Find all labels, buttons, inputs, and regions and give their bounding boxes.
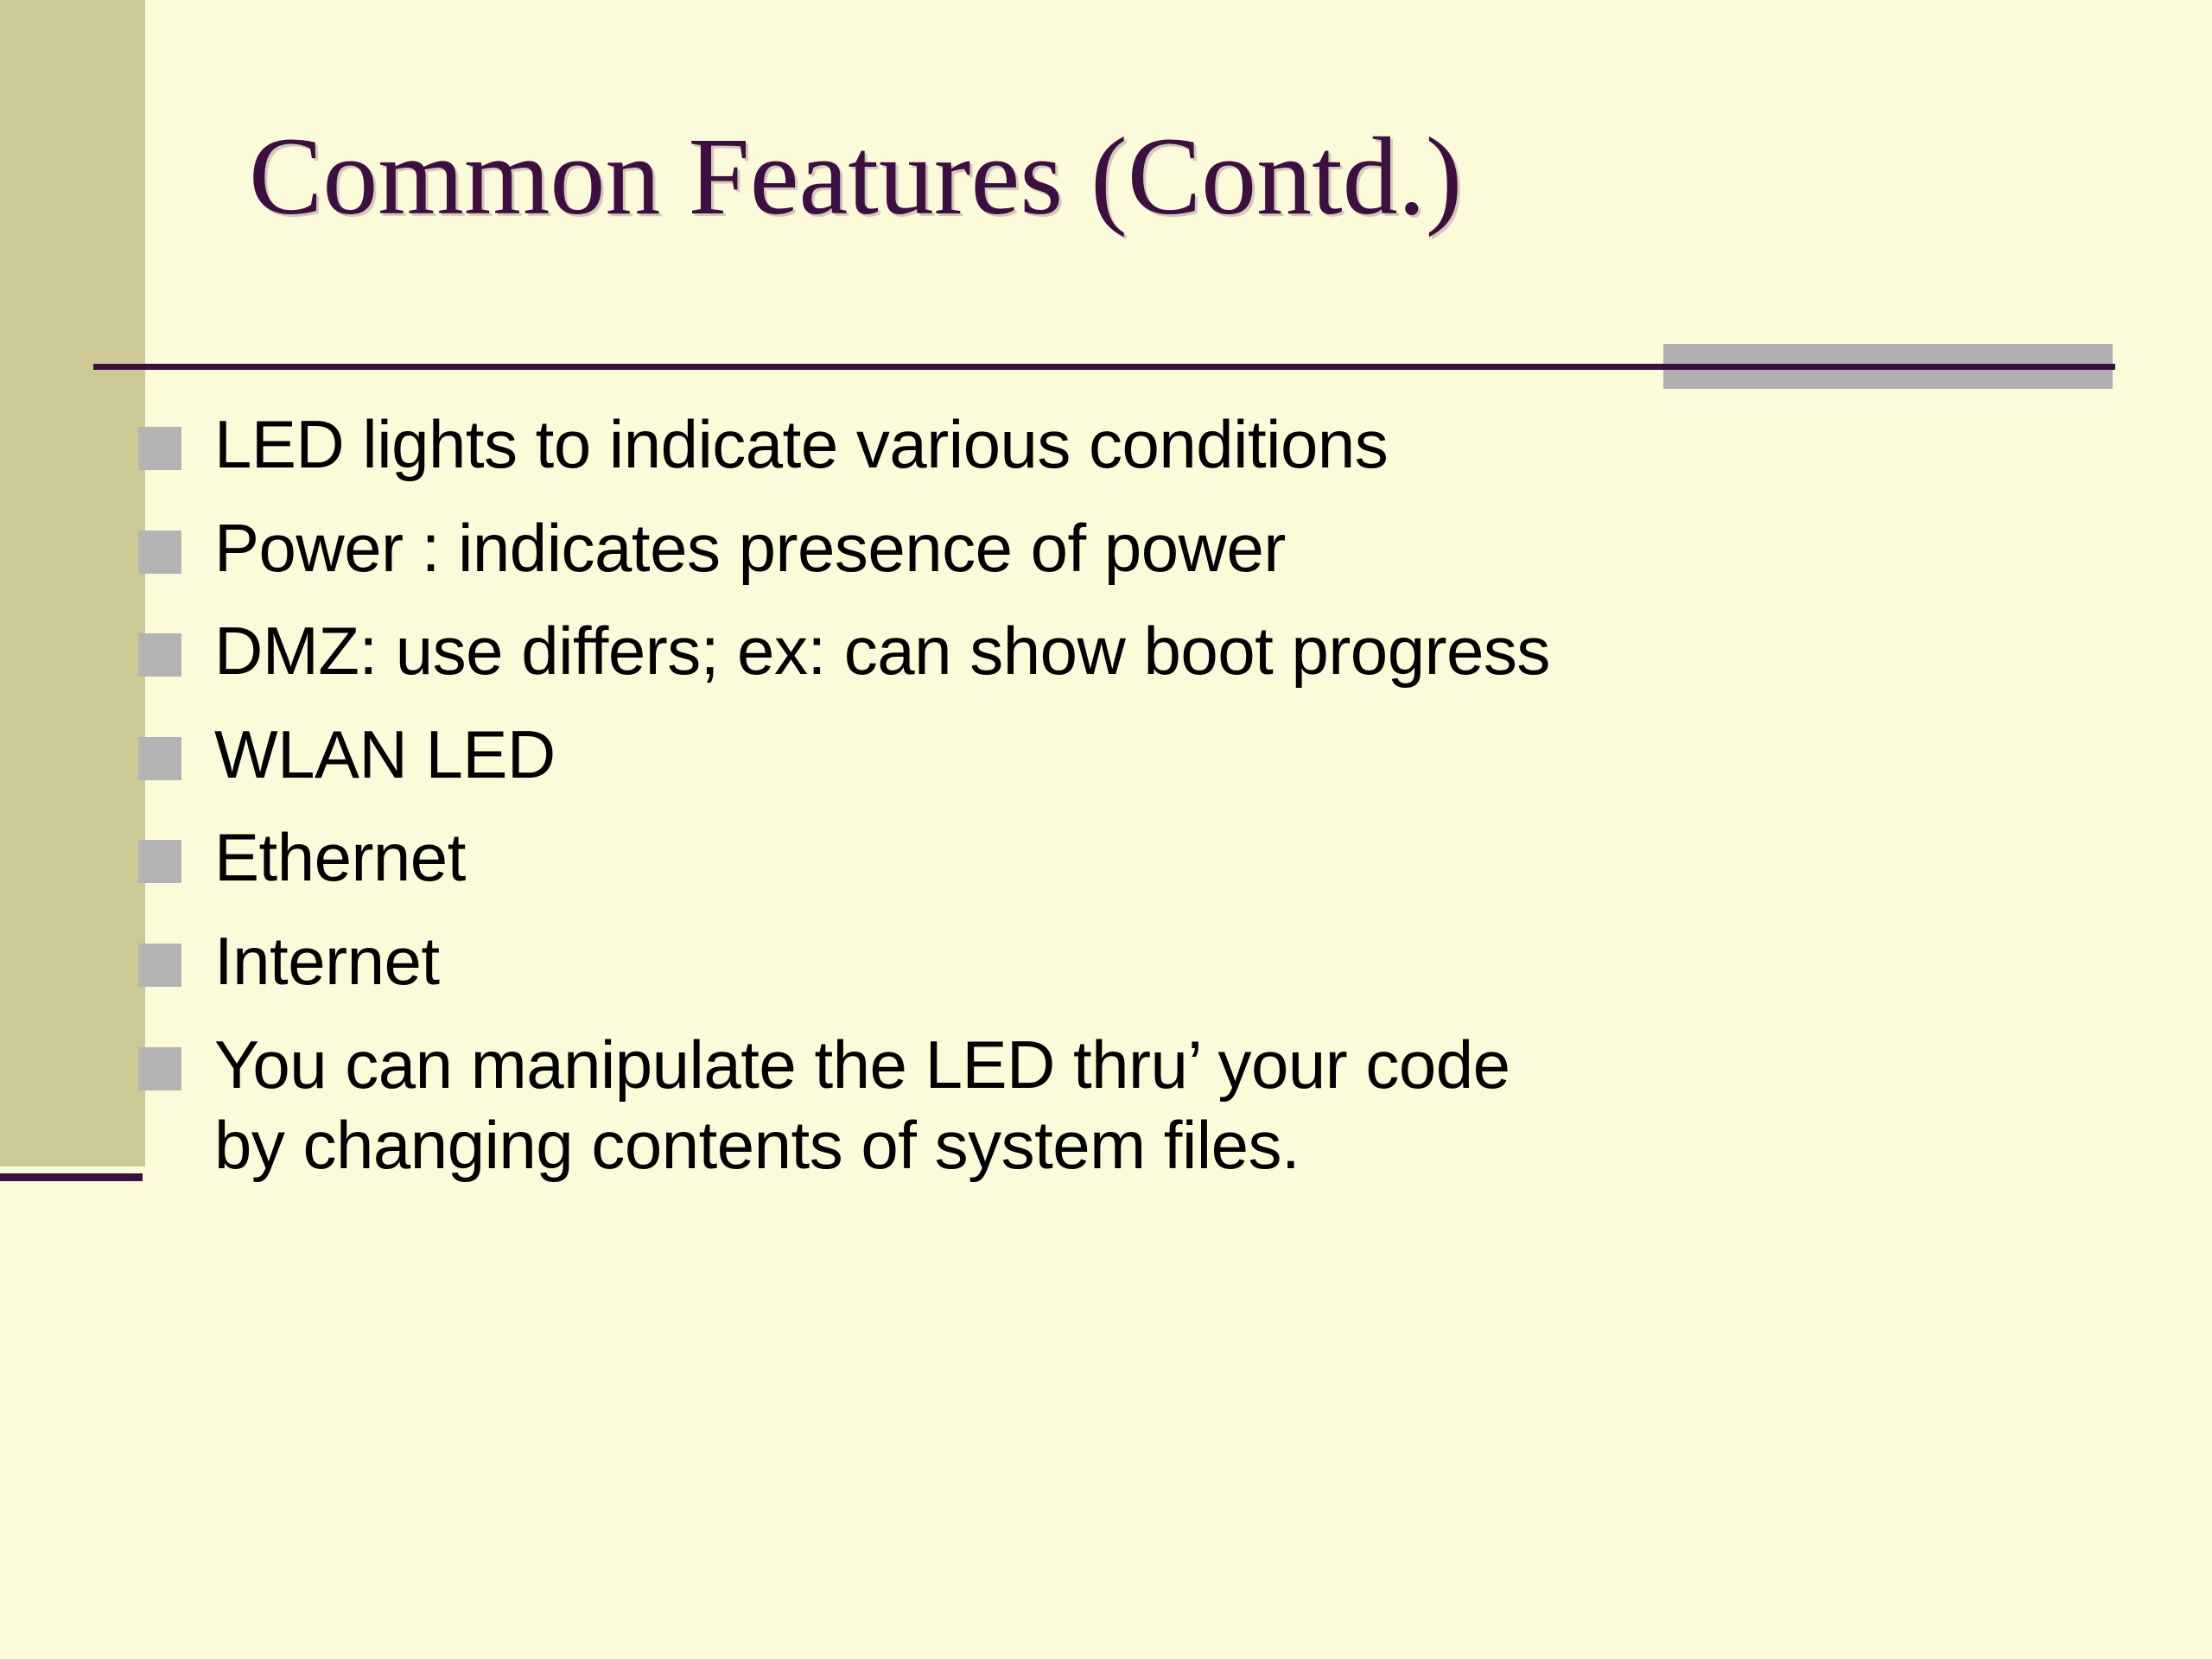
square-bullet-icon	[138, 633, 181, 677]
bullet-list: LED lights to indicate various condition…	[0, 404, 2126, 1209]
list-item-label: DMZ: use differs; ex: can show boot prog…	[214, 611, 2012, 692]
divider-line	[93, 364, 2115, 370]
title-block: Common Features (Contd.)	[145, 121, 2158, 294]
list-item: LED lights to indicate various condition…	[0, 404, 2126, 486]
square-bullet-icon	[138, 427, 181, 470]
page-title: Common Features (Contd.)	[145, 121, 2158, 232]
square-bullet-icon	[138, 944, 181, 987]
list-item-label: You can manipulate the LED thru’ your co…	[214, 1025, 2012, 1186]
list-item: WLAN LED	[0, 715, 2126, 796]
list-item-label: WLAN LED	[214, 715, 2012, 796]
square-bullet-icon	[138, 531, 181, 574]
title-divider	[0, 337, 2212, 397]
list-item: Ethernet	[0, 817, 2126, 899]
list-item: DMZ: use differs; ex: can show boot prog…	[0, 611, 2126, 692]
list-item: Power : indicates presence of power	[0, 508, 2126, 589]
square-bullet-icon	[138, 737, 181, 780]
list-item-label: Ethernet	[214, 817, 2012, 899]
list-item: Internet	[0, 921, 2126, 1002]
presentation-slide: Common Features (Contd.) LED lights to i…	[0, 0, 2212, 1659]
square-bullet-icon	[138, 1047, 181, 1090]
list-item: You can manipulate the LED thru’ your co…	[0, 1025, 2126, 1186]
list-item-label: Internet	[214, 921, 2012, 1002]
list-item-label: LED lights to indicate various condition…	[214, 404, 2012, 486]
square-bullet-icon	[138, 840, 181, 883]
list-item-label: Power : indicates presence of power	[214, 508, 2012, 589]
